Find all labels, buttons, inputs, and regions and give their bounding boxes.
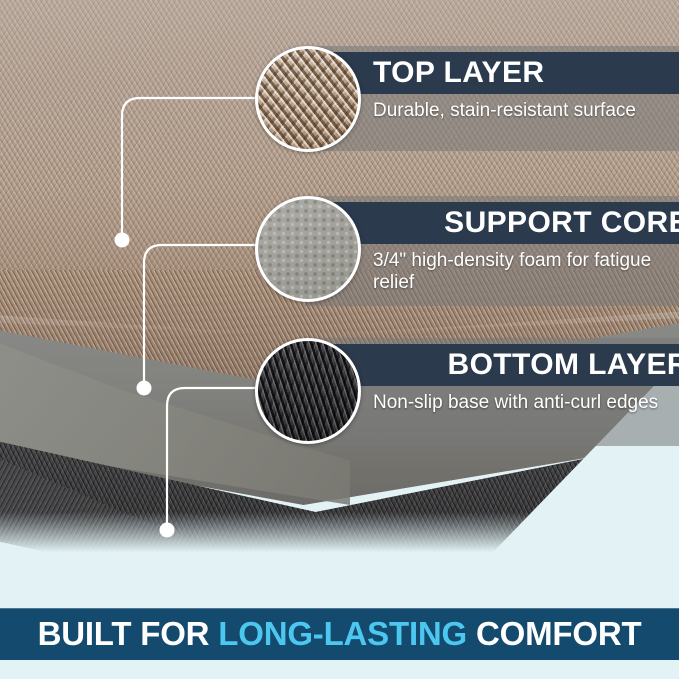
- callout-support-core-title-text: SUPPORT CORE: [444, 206, 679, 240]
- callout-support-core-title: SUPPORT CORE: [313, 202, 679, 244]
- product-infographic: TOP LAYER Durable, stain-resistant surfa…: [0, 0, 679, 679]
- banner-bottom-spacer: [0, 660, 679, 679]
- callout-top-layer-title-text: TOP LAYER: [373, 56, 544, 90]
- banner-highlight: LONG-LASTING: [218, 615, 467, 652]
- callout-support-core-description: 3/4" high-density foam for fatigue relie…: [373, 250, 679, 295]
- callout-top-layer-title: TOP LAYER: [313, 52, 679, 94]
- callout-bottom-layer-title: BOTTOM LAYER: [313, 344, 679, 386]
- callout-support-core-panel: SUPPORT CORE 3/4" high-density foam for …: [305, 196, 679, 306]
- banner-text: BUILT FOR LONG-LASTING COMFORT: [38, 615, 642, 653]
- bottom-banner: BUILT FOR LONG-LASTING COMFORT: [0, 608, 679, 660]
- callout-bottom-layer-title-text: BOTTOM LAYER: [448, 348, 679, 382]
- support-core-swatch: [255, 196, 361, 302]
- banner-prefix: BUILT FOR: [38, 615, 219, 652]
- callout-bottom-layer-description: Non-slip base with anti-curl edges: [373, 392, 673, 414]
- callout-bottom-layer-panel: BOTTOM LAYER Non-slip base with anti-cur…: [305, 338, 679, 446]
- callout-top-layer-panel: TOP LAYER Durable, stain-resistant surfa…: [305, 46, 679, 151]
- bottom-layer-swatch: [255, 338, 361, 444]
- top-layer-swatch: [255, 46, 361, 152]
- background-bottom-fade: [0, 512, 679, 608]
- banner-suffix: COMFORT: [467, 615, 641, 652]
- callout-top-layer-description: Durable, stain-resistant surface: [373, 100, 679, 122]
- banner-top-spacer: [0, 596, 679, 608]
